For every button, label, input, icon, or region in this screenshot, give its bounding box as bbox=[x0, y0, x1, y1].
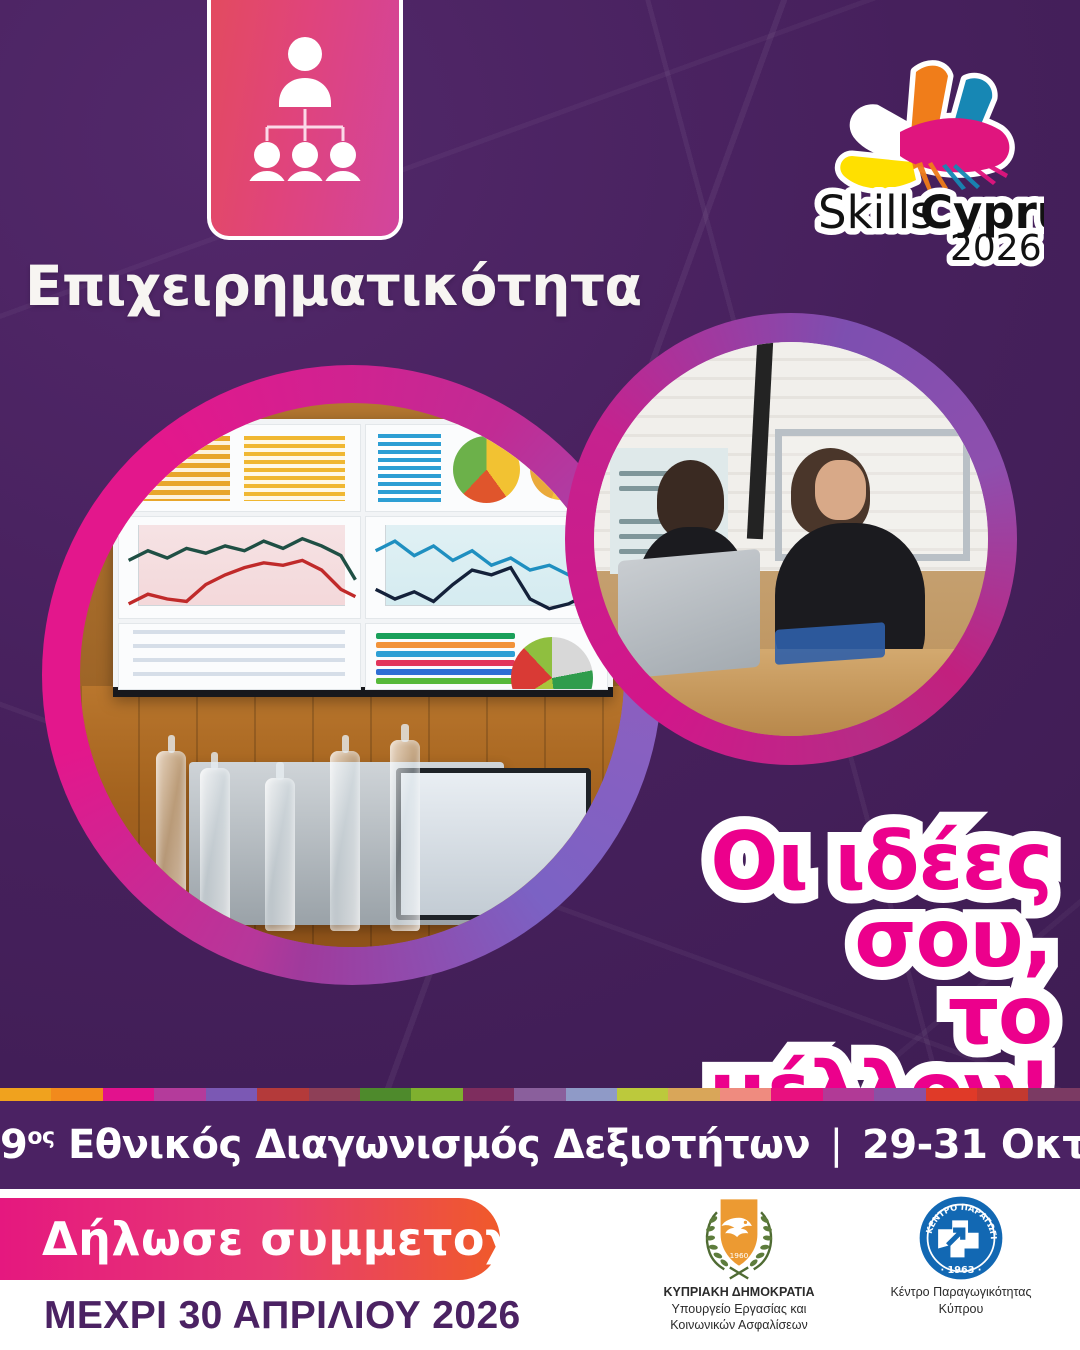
color-strip-segment bbox=[51, 1088, 102, 1101]
event-dates: 29-31 Οκτωβρίου 2026 bbox=[862, 1122, 1080, 1168]
photo-participants-laptops bbox=[594, 342, 988, 736]
color-strip-segment bbox=[720, 1088, 771, 1101]
kepa-logo-svg: ΚΕΝΤΡΟ ΠΑΡΑΓΩΓΙΚΟΤΗΤΑΣ ΚΥΠΡΟΥ · 1963 · bbox=[917, 1194, 1005, 1282]
color-strip-segment bbox=[926, 1088, 977, 1101]
skillscyprus-logo-svg: Skills Cyprus 2026 Skills Cyprus 2026 bbox=[804, 44, 1044, 274]
cyprus-emblem-svg: 1960 bbox=[693, 1192, 785, 1284]
color-strip-segment bbox=[668, 1088, 719, 1101]
slogan-sticker: Οι ιδέες σου, το μέλλον! bbox=[632, 824, 1052, 1131]
kepa-cyprus-logo: ΚΕΝΤΡΟ ΠΑΡΑΓΩΓΙΚΟΤΗΤΑΣ ΚΥΠΡΟΥ · 1963 · bbox=[861, 1192, 1061, 1284]
color-strip-segment bbox=[514, 1088, 565, 1101]
color-strip-segment bbox=[617, 1088, 668, 1101]
cyprus-caption-line-3: Κοινωνικών Ασφαλίσεων bbox=[670, 1318, 808, 1332]
org-chart-people-icon bbox=[207, 0, 403, 240]
kepa-caption: Κέντρο Παραγωγικότητας Κύπρου bbox=[861, 1284, 1061, 1317]
event-banner-text: 9ος Εθνικός Διαγωνισμός Δεξιοτήτων | 29-… bbox=[0, 1122, 1080, 1168]
cyprus-caption-line-1: ΚΥΠΡΙΑΚΗ ΔΗΜΟΚΡΑΤΙΑ bbox=[663, 1285, 814, 1299]
color-strip bbox=[0, 1088, 1080, 1101]
color-strip-segment bbox=[463, 1088, 514, 1101]
kepa-caption-line-2: Κύπρου bbox=[939, 1302, 984, 1316]
color-strip-segment bbox=[977, 1088, 1028, 1101]
cyprus-caption-line-2: Υπουργείο Εργασίας και bbox=[672, 1302, 807, 1316]
register-button[interactable]: Δήλωσε συμμετοχή bbox=[0, 1198, 500, 1280]
deadline-text: ΜΕΧΡΙ 30 ΑΠΡΙΛΙΟΥ 2026 bbox=[44, 1294, 521, 1338]
color-strip-segment bbox=[309, 1088, 360, 1101]
logo-wordmark-skills: Skills bbox=[818, 186, 934, 239]
color-strip-segment bbox=[0, 1088, 51, 1101]
organisation-kepa: ΚΕΝΤΡΟ ΠΑΡΑΓΩΓΙΚΟΤΗΤΑΣ ΚΥΠΡΟΥ · 1963 · Κ… bbox=[861, 1192, 1061, 1350]
poster-canvas: Επιχειρηματικότητα bbox=[0, 0, 1080, 1350]
slogan-line-2: σου, bbox=[632, 901, 1052, 978]
org-chart-icon-svg bbox=[230, 31, 380, 181]
cyprus-republic-caption: ΚΥΠΡΙΑΚΗ ΔΗΜΟΚΡΑΤΙΑ Υπουργείο Εργασίας κ… bbox=[639, 1284, 839, 1334]
organisation-logos: 1960 bbox=[620, 1192, 1080, 1350]
edition-number: 9 bbox=[0, 1122, 27, 1168]
event-banner: 9ος Εθνικός Διαγωνισμός Δεξιοτήτων | 29-… bbox=[0, 1101, 1080, 1189]
edition-suffix: ος bbox=[27, 1125, 54, 1150]
skillscyprus-logo: Skills Cyprus 2026 Skills Cyprus 2026 bbox=[804, 44, 1044, 274]
color-strip-segment bbox=[1028, 1088, 1079, 1101]
photo-dashboard-screens bbox=[80, 403, 624, 947]
event-title: Εθνικός Διαγωνισμός Δεξιοτήτων bbox=[68, 1122, 810, 1168]
color-strip-segment bbox=[257, 1088, 308, 1101]
color-strip-segment bbox=[823, 1088, 874, 1101]
register-button-label: Δήλωσε συμμετοχή bbox=[42, 1212, 548, 1266]
page-title: Επιχειρηματικότητα bbox=[25, 254, 642, 318]
banner-separator: | bbox=[830, 1122, 843, 1168]
logo-year: 2026 bbox=[950, 228, 1042, 269]
color-strip-segment bbox=[360, 1088, 411, 1101]
color-strip-segment bbox=[874, 1088, 925, 1101]
color-strip-segment bbox=[411, 1088, 462, 1101]
svg-text:· 1963 ·: · 1963 · bbox=[940, 1265, 981, 1276]
color-strip-segment bbox=[103, 1088, 154, 1101]
kepa-caption-line-1: Κέντρο Παραγωγικότητας bbox=[890, 1285, 1031, 1299]
organisation-cyprus-republic: 1960 bbox=[639, 1192, 839, 1350]
color-strip-segment bbox=[771, 1088, 822, 1101]
color-strip-segment bbox=[154, 1088, 205, 1101]
cyprus-republic-emblem: 1960 bbox=[639, 1192, 839, 1284]
svg-text:1960: 1960 bbox=[730, 1251, 749, 1260]
color-strip-segment bbox=[566, 1088, 617, 1101]
slogan-line-1: Οι ιδέες bbox=[632, 824, 1052, 901]
color-strip-segment bbox=[206, 1088, 257, 1101]
